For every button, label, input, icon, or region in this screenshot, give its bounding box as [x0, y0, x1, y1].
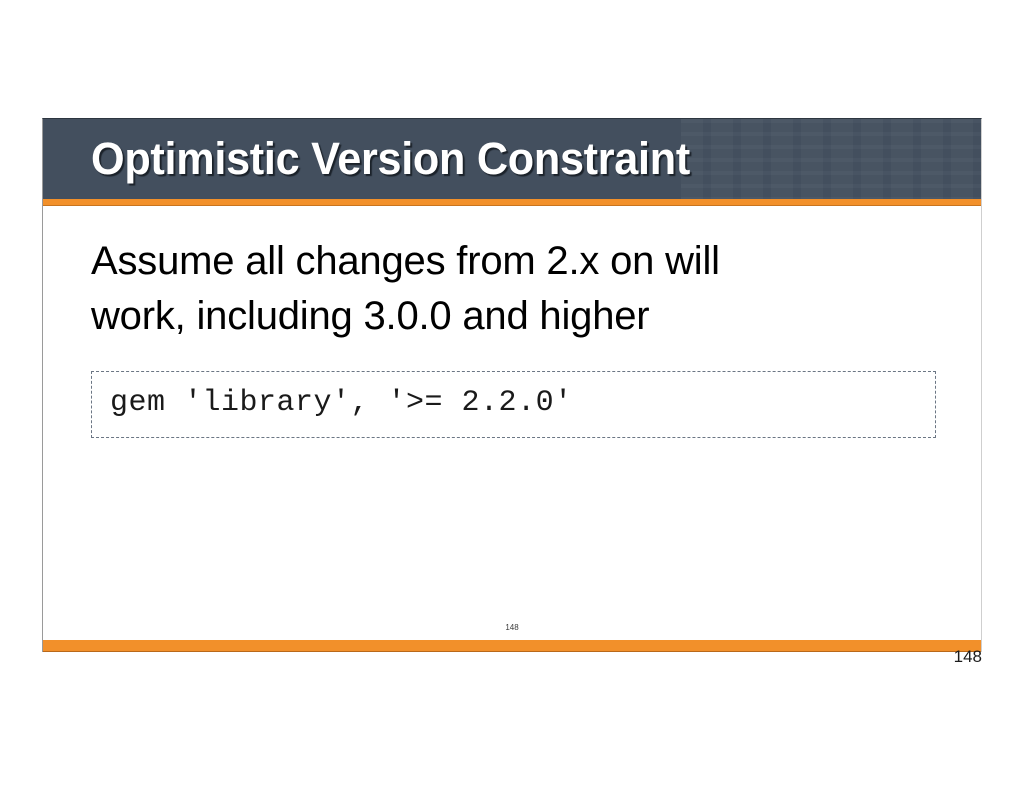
slide-body: Assume all changes from 2.x on will work…: [43, 207, 981, 621]
code-block: gem 'library', '>= 2.2.0': [91, 371, 936, 438]
body-paragraph: Assume all changes from 2.x on will work…: [91, 207, 811, 344]
header-texture-pattern: [681, 119, 981, 199]
title-accent-rule: [43, 199, 981, 206]
code-snippet: gem 'library', '>= 2.2.0': [110, 386, 917, 421]
page-canvas: Optimistic Version Constraint Assume all…: [0, 0, 1024, 791]
slide-title: Optimistic Version Constraint: [91, 133, 690, 185]
slide: Optimistic Version Constraint Assume all…: [42, 118, 982, 652]
slide-title-band: Optimistic Version Constraint: [43, 119, 981, 199]
footer-accent-rule: [43, 640, 981, 652]
slide-footer-number: 148: [43, 624, 981, 632]
page-number: 148: [954, 648, 982, 665]
